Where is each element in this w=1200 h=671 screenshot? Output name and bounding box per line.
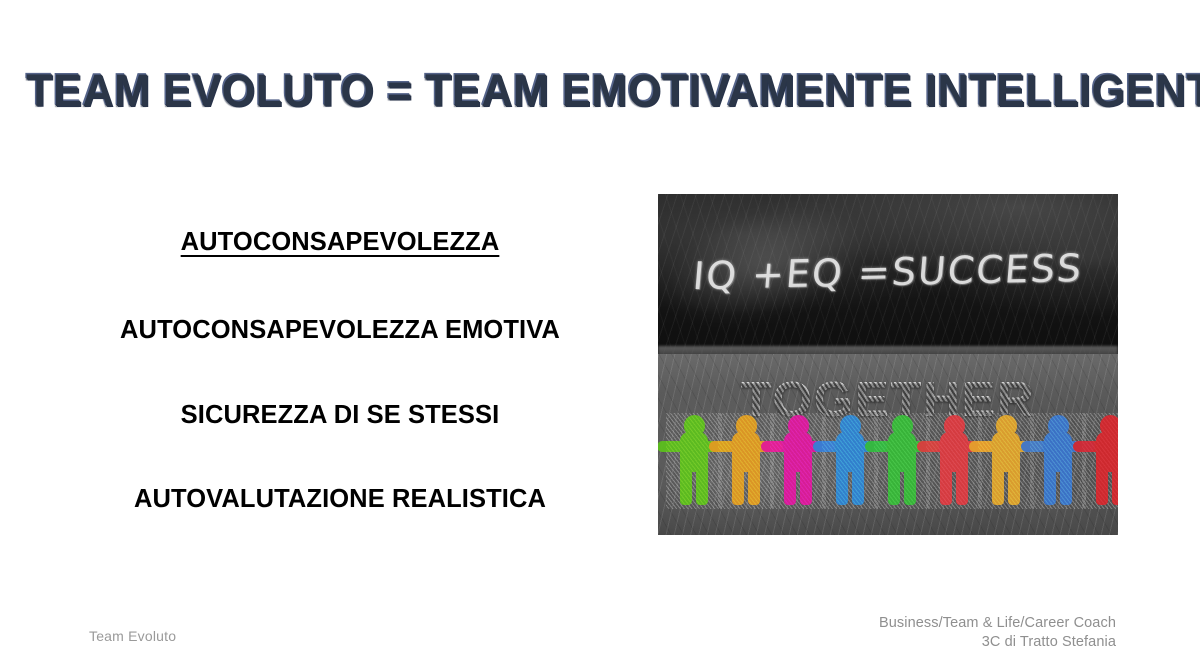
- body-line-1: AUTOCONSAPEVOLEZZA: [60, 228, 620, 257]
- body-line-4: AUTOVALUTAZIONE REALISTICA: [60, 485, 620, 514]
- page-title: TEAM EVOLUTO = TEAM EMOTIVAMENTE INTELLI…: [25, 66, 1200, 113]
- footer-left-label: Team Evoluto: [89, 628, 176, 644]
- bullet-text-block: AUTOCONSAPEVOLEZZA AUTOCONSAPEVOLEZZA EM…: [60, 228, 620, 514]
- slide-title-container: TEAM EVOLUTO = TEAM EMOTIVAMENTE INTELLI…: [0, 66, 1200, 113]
- figure-person-2: [720, 415, 772, 507]
- figure-person-7: [980, 415, 1032, 507]
- figure-person-3: [772, 415, 824, 507]
- figure-person-8: [1032, 415, 1084, 507]
- figure-person-4: [824, 415, 876, 507]
- paper-doll-figures-row: [668, 411, 1118, 507]
- footer-right-line-2: 3C di Tratto Stefania: [879, 633, 1116, 652]
- presentation-slide: TEAM EVOLUTO = TEAM EMOTIVAMENTE INTELLI…: [0, 0, 1200, 671]
- figure-person-1: [668, 415, 720, 507]
- figure-person-5: [876, 415, 928, 507]
- footer-right-line-1: Business/Team & Life/Career Coach: [879, 614, 1116, 633]
- body-line-2: AUTOCONSAPEVOLEZZA EMOTIVA: [60, 316, 620, 345]
- figure-person-9: [1084, 415, 1118, 507]
- chalkboard-image: IQ +EQ =SUCCESS TOGETHER: [658, 194, 1118, 535]
- body-line-3: SICUREZZA DI SE STESSI: [60, 401, 620, 430]
- footer-right-block: Business/Team & Life/Career Coach 3C di …: [879, 614, 1116, 652]
- figure-person-6: [928, 415, 980, 507]
